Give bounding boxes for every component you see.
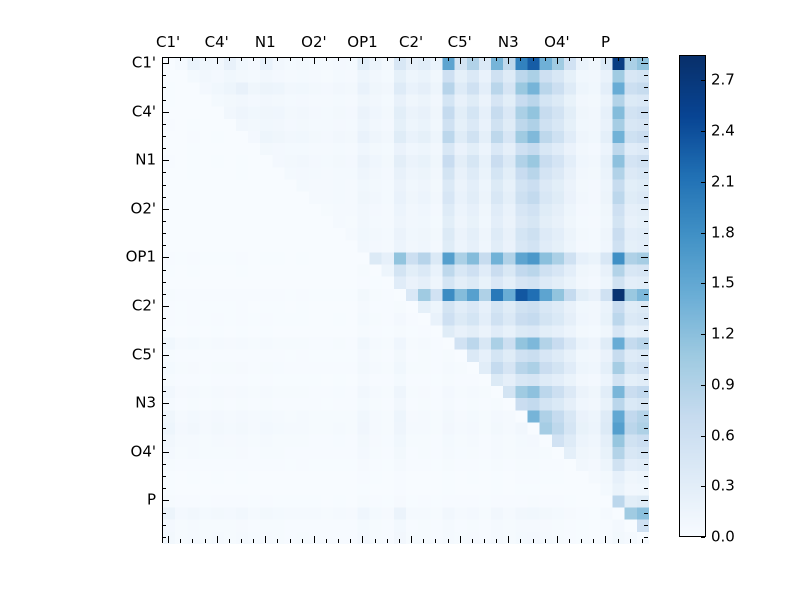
x-tick-label: P — [601, 35, 610, 50]
x-tick-label: N1 — [255, 35, 276, 50]
x-tick-label: O4' — [544, 35, 569, 50]
colorbar-tick-label: 2.4 — [711, 124, 735, 139]
x-tick-label: OP1 — [347, 35, 377, 50]
colorbar-tick-label: 1.5 — [711, 276, 735, 291]
heatmap-image[interactable] — [163, 58, 649, 544]
colorbar-axes[interactable] — [679, 55, 706, 537]
colorbar-tick-label: 1.2 — [711, 327, 735, 342]
y-tick-label: C4' — [104, 104, 156, 119]
heatmap-axes[interactable] — [162, 57, 648, 543]
y-tick-label: O2' — [104, 201, 156, 216]
x-tick-label: C1' — [156, 35, 180, 50]
y-tick-label: N3 — [104, 396, 156, 411]
colorbar-tick — [701, 537, 705, 538]
y-tick-label: P — [104, 493, 156, 508]
x-tick-label: C4' — [205, 35, 229, 50]
y-tick-label: C2' — [104, 299, 156, 314]
y-tick-label: OP1 — [104, 250, 156, 265]
colorbar-tick-label: 2.1 — [711, 174, 735, 189]
x-tick-label: C5' — [448, 35, 472, 50]
y-tick-label: C1' — [104, 56, 156, 71]
x-tick-label: N3 — [498, 35, 519, 50]
y-tick-label: O4' — [104, 444, 156, 459]
x-tick-label: O2' — [301, 35, 326, 50]
colorbar-tick-label: 1.8 — [711, 225, 735, 240]
x-tick-label: C2' — [399, 35, 423, 50]
figure-canvas: C1'C4'N1O2'OP1C2'C5'N3O4'PC1'C4'N1O2'OP1… — [0, 0, 800, 600]
y-tick-label: C5' — [104, 347, 156, 362]
colorbar-gradient — [680, 56, 705, 536]
colorbar-tick-label: 2.7 — [711, 73, 735, 88]
y-tick-label: N1 — [104, 153, 156, 168]
colorbar-tick-label: 0.6 — [711, 428, 735, 443]
colorbar-tick-label: 0.9 — [711, 377, 735, 392]
colorbar-tick-label: 0.3 — [711, 479, 735, 494]
colorbar-tick-label: 0.0 — [711, 530, 735, 545]
